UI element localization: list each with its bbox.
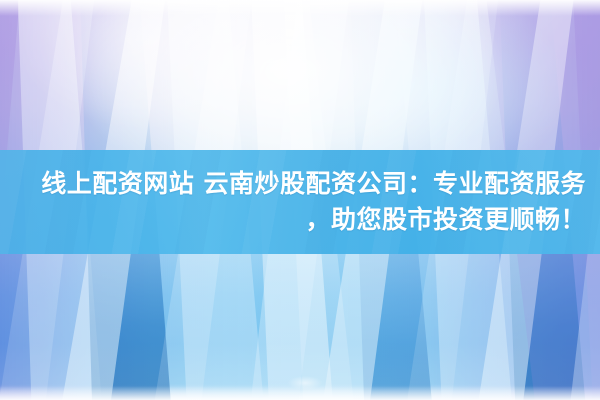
headline-line-1: 线上配资网站 云南炒股配资公司：专业配资服务 bbox=[14, 166, 586, 202]
top-edge-fade bbox=[0, 0, 600, 16]
banner-image: 线上配资网站 云南炒股配资公司：专业配资服务 ，助您股市投资更顺畅！ bbox=[0, 0, 600, 400]
headline-band: 线上配资网站 云南炒股配资公司：专业配资服务 ，助您股市投资更顺畅！ bbox=[0, 150, 600, 254]
headline-line-2: ，助您股市投资更顺畅！ bbox=[14, 202, 586, 238]
bottom-edge-fade bbox=[0, 386, 600, 400]
